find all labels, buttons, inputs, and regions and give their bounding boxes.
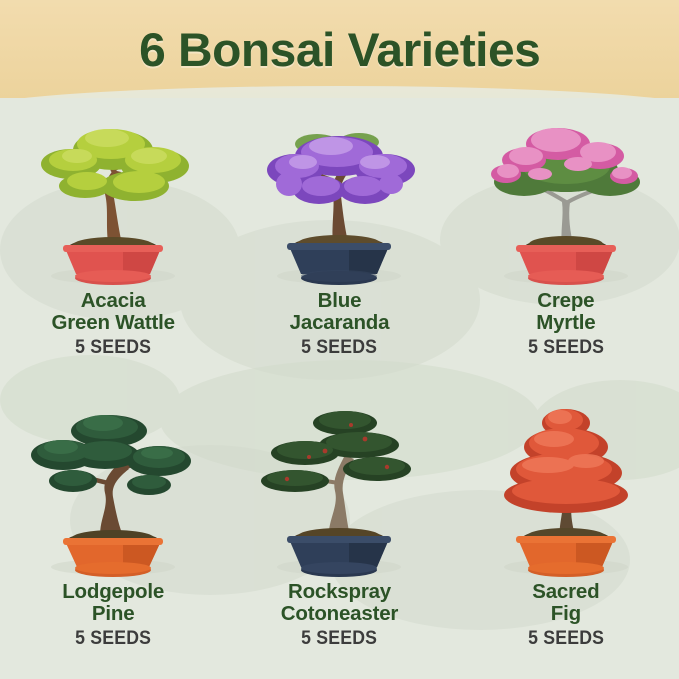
variety-name-line2: Jacaranda [226,312,452,334]
variety-name-line1: Rockspray [226,581,452,603]
bonsai-illustration-crepe-myrtle [453,98,679,288]
variety-name-line1: Acacia [0,290,226,312]
variety-name-line1: Blue [226,290,452,312]
variety-card-lodgepole-pine[interactable]: Lodgepole Pine 5 SEEDS [0,389,226,679]
bonsai-illustration-sacred-fig [453,389,679,579]
variety-caption: Blue Jacaranda 5 SEEDS [226,290,452,360]
bonsai-illustration-lodgepole-pine [0,389,226,579]
variety-caption: Lodgepole Pine 5 SEEDS [0,581,226,651]
variety-card-acacia-green-wattle[interactable]: Acacia Green Wattle 5 SEEDS [0,98,226,389]
variety-name-line2: Pine [0,603,226,625]
seed-count: 5 SEEDS [8,627,218,651]
variety-name-line1: Lodgepole [0,581,226,603]
variety-name-line2: Myrtle [453,312,679,334]
variety-card-sacred-fig[interactable]: Sacred Fig 5 SEEDS [453,389,679,679]
variety-name-line2: Fig [453,603,679,625]
seed-count: 5 SEEDS [234,336,444,360]
seed-count: 5 SEEDS [234,627,444,651]
variety-name-line1: Crepe [453,290,679,312]
variety-name-line1: Sacred [453,581,679,603]
page-title: 6 Bonsai Varieties [139,22,540,77]
variety-caption: Crepe Myrtle 5 SEEDS [453,290,679,360]
seed-count: 5 SEEDS [461,336,671,360]
variety-caption: Sacred Fig 5 SEEDS [453,581,679,651]
seed-count: 5 SEEDS [461,627,671,651]
variety-caption: Rockspray Cotoneaster 5 SEEDS [226,581,452,651]
variety-card-rockspray-cotoneaster[interactable]: Rockspray Cotoneaster 5 SEEDS [226,389,452,679]
seed-count: 5 SEEDS [8,336,218,360]
variety-name-line2: Green Wattle [0,312,226,334]
bonsai-illustration-jacaranda [226,98,452,288]
varieties-grid: Acacia Green Wattle 5 SEEDS [0,98,679,679]
variety-name-line2: Cotoneaster [226,603,452,625]
bonsai-illustration-cotoneaster [226,389,452,579]
bonsai-varieties-poster: 6 Bonsai Varieties [0,0,679,679]
header-band: 6 Bonsai Varieties [0,0,679,98]
variety-card-crepe-myrtle[interactable]: Crepe Myrtle 5 SEEDS [453,98,679,389]
variety-card-blue-jacaranda[interactable]: Blue Jacaranda 5 SEEDS [226,98,452,389]
variety-caption: Acacia Green Wattle 5 SEEDS [0,290,226,360]
bonsai-illustration-acacia [0,98,226,288]
